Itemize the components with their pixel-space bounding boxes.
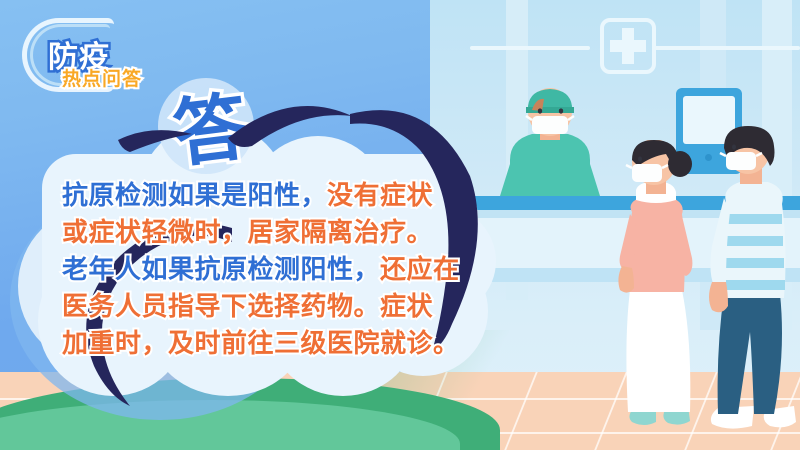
- program-logo: 防疫 热点问答: [14, 16, 154, 96]
- answer-text-segment: 或症状轻微时，居家隔离治疗。: [62, 218, 433, 248]
- logo-sub-text: 热点问答: [62, 64, 142, 91]
- answer-text-block: 抗原检测如果是阳性，没有症状或症状轻微时，居家隔离治疗。老年人如果抗原检测阳性，…: [62, 178, 482, 363]
- answer-text-segment: 还应在: [380, 255, 460, 285]
- answer-text-line: 抗原检测如果是阳性，没有症状: [62, 178, 482, 215]
- answer-text-segment: 抗原检测如果是阳性，: [62, 181, 327, 211]
- answer-text-line: 或症状轻微时，居家隔离治疗。: [62, 215, 482, 252]
- medical-cross-icon-bar: [610, 40, 646, 52]
- man-patient-figure: [700, 126, 800, 436]
- sign-rail-right: [654, 46, 800, 50]
- answer-text-segment: 老年人如果抗原检测阳性，: [62, 255, 380, 285]
- answer-text-segment: 没有症状: [327, 181, 433, 211]
- sign-rail-left: [470, 46, 590, 50]
- answer-text-segment: 医务人员指导下选择药物。症状: [62, 292, 433, 322]
- woman-patient-figure: [604, 140, 708, 430]
- answer-text-line: 老年人如果抗原检测阳性，还应在: [62, 252, 482, 289]
- answer-badge-character: 答: [154, 68, 265, 179]
- logo-sub-label: 热点问答: [62, 68, 142, 90]
- answer-text-line: 医务人员指导下选择药物。症状: [62, 289, 482, 326]
- answer-text-segment: 加重时，及时前往三级医院就诊。: [62, 329, 460, 359]
- answer-text-line: 加重时，及时前往三级医院就诊。: [62, 326, 482, 363]
- medical-staff-figure: [492, 86, 608, 206]
- poster-canvas: 答 抗原检测如果是阳性，没有症状或症状轻微时，居家隔离治疗。老年人如果抗原检测阳…: [0, 0, 800, 450]
